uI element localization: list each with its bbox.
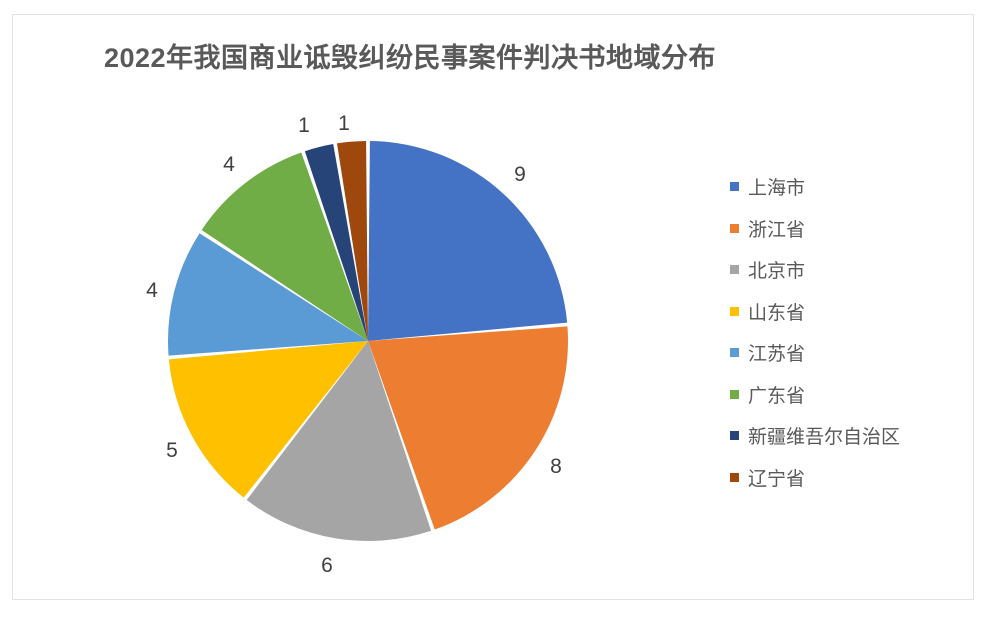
legend-swatch-icon	[730, 473, 739, 482]
legend-swatch-icon	[730, 182, 739, 191]
legend-item-label: 北京市	[748, 256, 805, 283]
plot-area: 98654411	[0, 0, 720, 619]
pie-svg	[0, 0, 720, 619]
pie-data-label: 4	[223, 153, 235, 177]
legend-item-广东省[interactable]: 广东省	[730, 374, 970, 416]
legend-swatch-icon	[730, 390, 739, 399]
legend-swatch-icon	[730, 265, 739, 274]
legend-item-label: 新疆维吾尔自治区	[748, 422, 900, 449]
legend-item-label: 上海市	[748, 173, 805, 200]
legend-item-北京市[interactable]: 北京市	[730, 249, 970, 291]
legend-swatch-icon	[730, 224, 739, 233]
legend-item-label: 山东省	[748, 298, 805, 325]
chart-legend: 上海市浙江省北京市山东省江苏省广东省新疆维吾尔自治区辽宁省	[730, 166, 970, 498]
legend-item-新疆维吾尔自治区[interactable]: 新疆维吾尔自治区	[730, 415, 970, 457]
legend-item-山东省[interactable]: 山东省	[730, 291, 970, 333]
legend-item-label: 辽宁省	[748, 464, 805, 491]
pie-data-label: 4	[146, 279, 158, 303]
legend-item-label: 浙江省	[748, 215, 805, 242]
pie-data-label: 8	[550, 455, 562, 479]
pie-data-label: 9	[514, 163, 526, 187]
legend-swatch-icon	[730, 431, 739, 440]
legend-item-浙江省[interactable]: 浙江省	[730, 208, 970, 250]
pie-data-label: 1	[338, 112, 350, 136]
legend-item-label: 广东省	[748, 381, 805, 408]
legend-item-辽宁省[interactable]: 辽宁省	[730, 457, 970, 499]
pie-data-label: 6	[321, 554, 333, 578]
legend-swatch-icon	[730, 348, 739, 357]
legend-item-江苏省[interactable]: 江苏省	[730, 332, 970, 374]
pie-data-label: 5	[166, 439, 178, 463]
pie-slice[interactable]	[368, 141, 567, 341]
legend-item-label: 江苏省	[748, 339, 805, 366]
legend-item-上海市[interactable]: 上海市	[730, 166, 970, 208]
pie-data-label: 1	[298, 114, 310, 138]
legend-swatch-icon	[730, 307, 739, 316]
pie-chart-container: 2022年我国商业诋毁纠纷民事案件判决书地域分布 98654411 上海市浙江省…	[0, 0, 993, 619]
